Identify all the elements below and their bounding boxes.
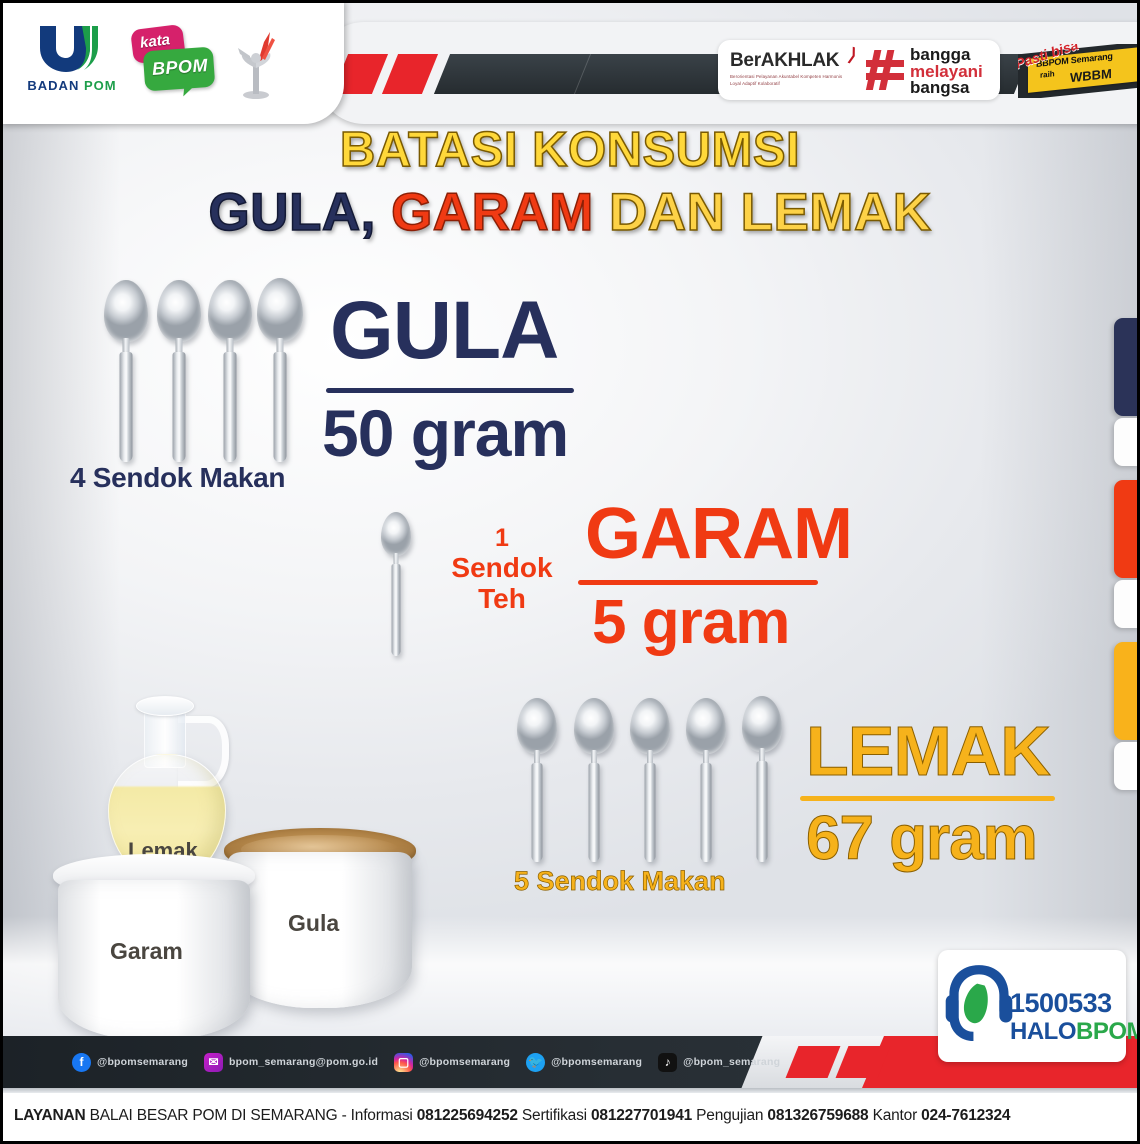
bangga-line3: bangsa: [910, 80, 983, 97]
footer-top-divider: [0, 1088, 1140, 1093]
oil-jug: Lemak: [100, 690, 230, 880]
twitter-handle: @bpomsemarang: [551, 1056, 642, 1068]
hash-icon: [864, 47, 908, 93]
tiktok-handle: @bpom_semarang: [683, 1056, 780, 1068]
headline-dan: DAN: [609, 183, 725, 242]
spoon-icon: [737, 696, 787, 862]
spoon-icon: [376, 512, 416, 656]
lemak-spoon-caption: 5 Sendok Makan: [514, 866, 726, 897]
social-link-facebook[interactable]: f @bpomsemarang: [72, 1053, 188, 1072]
gula-spoon-caption: 4 Sendok Makan: [70, 462, 285, 494]
background-shadow-right: [980, 110, 1140, 1050]
garam-spoon-caption: 1 Sendok Teh: [432, 524, 572, 615]
instagram-handle: @bpomsemarang: [419, 1056, 510, 1068]
footer-pengujian-value: 081326759688: [767, 1107, 868, 1124]
halo-bpom-badge[interactable]: 1500533 HALOBPOM: [938, 950, 1126, 1062]
footer-sertifikasi-value: 081227701941: [591, 1107, 692, 1124]
footer-pengujian-label: Pengujian: [696, 1107, 763, 1124]
poster-headline: BATASI KONSUMSI GULA, GARAM DAN LEMAK: [0, 126, 1140, 240]
social-link-tiktok[interactable]: ♪ @bpom_semarang: [658, 1053, 780, 1072]
salt-jar-label: Garam: [110, 938, 183, 965]
footer-kantor-label: Kantor: [873, 1107, 917, 1124]
bpom-label: BPOM: [151, 55, 208, 80]
bangga-melayani-bangsa-logo: bangga melayani bangsa: [910, 47, 983, 97]
berakhlak-logo: BerAKHLAK ⟩ Berorientasi Pelayanan Akunt…: [730, 50, 852, 88]
headline-line2: GULA, GARAM DAN LEMAK: [0, 186, 1140, 240]
footer-contact-strip: LAYANAN BALAI BESAR POM DI SEMARANG - In…: [0, 1088, 1140, 1144]
garam-divider: [578, 580, 818, 585]
halo-bpom-number: 1500533: [1010, 988, 1112, 1019]
footer-org: BALAI BESAR POM DI SEMARANG: [90, 1107, 338, 1124]
garam-caption-line1: 1: [432, 524, 572, 552]
lemak-title: LEMAK: [806, 718, 1050, 785]
badan-pom-mark-icon: [34, 24, 106, 74]
tiktok-icon: ♪: [658, 1053, 677, 1072]
facebook-handle: @bpomsemarang: [97, 1056, 188, 1068]
spoon-icon: [251, 278, 309, 462]
gula-amount: 50 gram: [322, 400, 568, 466]
berakhlak-bangga-pill: BerAKHLAK ⟩ Berorientasi Pelayanan Akunt…: [718, 40, 1000, 100]
social-link-twitter[interactable]: 🐦 @bpomsemarang: [526, 1053, 642, 1072]
footer-kantor-value: 024-7612324: [921, 1107, 1010, 1124]
badan-pom-wordmark: BADAN POM: [18, 78, 126, 93]
twitter-icon: 🐦: [526, 1053, 545, 1072]
garam-caption-line3: Teh: [432, 583, 572, 614]
sugar-jar-label: Gula: [288, 910, 339, 937]
tab-gula-white: [1114, 418, 1140, 466]
spoon-icon: [681, 698, 731, 862]
lemak-divider: [800, 796, 1055, 801]
berakhlak-tick-icon: ⟩: [846, 44, 859, 66]
gula-title: GULA: [330, 292, 558, 370]
social-links-group: f @bpomsemarang ✉ bpom_semarang@pom.go.i…: [72, 1036, 780, 1088]
garam-caption-line2: Sendok: [432, 552, 572, 583]
footer-contact-text: LAYANAN BALAI BESAR POM DI SEMARANG - In…: [0, 1107, 1010, 1125]
garam-amount: 5 gram: [592, 592, 789, 654]
headline-garam: GARAM: [391, 183, 594, 242]
headline-line1: BATASI KONSUMSI: [0, 126, 1140, 176]
badan-pom-logo: BADAN POM: [18, 24, 126, 100]
tugu-muda-statue-icon: [228, 28, 284, 100]
header-logo-group: BADAN POM kata BPOM: [0, 0, 344, 124]
email-icon: ✉: [204, 1053, 223, 1072]
infographic-poster: BerAKHLAK ⟩ Berorientasi Pelayanan Akunt…: [0, 0, 1140, 1144]
jug-lip: [136, 696, 194, 716]
social-link-email[interactable]: ✉ bpom_semarang@pom.go.id: [204, 1053, 378, 1072]
footer-sertifikasi-label: Sertifikasi: [522, 1107, 587, 1124]
berakhlak-title: BerAKHLAK ⟩: [730, 50, 852, 72]
halo-bpom-wordmark: HALOBPOM: [1010, 1018, 1140, 1046]
wbbm-ribbon: BBPOM Semarang raih WBBM Pasti bisa: [1018, 44, 1140, 98]
tab-garam-indicator[interactable]: [1114, 480, 1140, 578]
header-banner: BerAKHLAK ⟩ Berorientasi Pelayanan Akunt…: [318, 22, 1140, 124]
lemak-amount: 67 gram: [806, 808, 1037, 870]
footer-prefix: LAYANAN: [14, 1107, 86, 1124]
tab-lemak-white: [1114, 742, 1140, 790]
social-link-instagram[interactable]: ▢ @bpomsemarang: [394, 1053, 510, 1072]
facebook-icon: f: [72, 1053, 91, 1072]
spoon-icon: [625, 698, 675, 862]
tab-garam-white: [1114, 580, 1140, 628]
headline-lemak: LEMAK: [741, 183, 932, 242]
footer-info-value: 081225694252: [417, 1107, 518, 1124]
spoon-icon: [512, 698, 562, 862]
email-handle: bpom_semarang@pom.go.id: [229, 1056, 378, 1068]
gula-divider: [326, 388, 574, 393]
garam-title: GARAM: [585, 500, 852, 568]
spoon-icon: [151, 280, 207, 462]
bubble-tail-icon: [183, 82, 196, 97]
instagram-icon: ▢: [394, 1053, 413, 1072]
headline-gula: GULA,: [208, 183, 375, 242]
sugar-jar: Gula: [228, 852, 412, 1008]
spoon-icon: [202, 280, 258, 462]
kata-bpom-logo: kata BPOM: [130, 27, 216, 95]
tab-lemak-indicator[interactable]: [1114, 642, 1140, 740]
spoon-icon: [569, 698, 619, 862]
kata-label: kata: [139, 31, 171, 52]
wbbm-line2: raih: [1040, 69, 1055, 80]
berakhlak-subtitle: Berorientasi Pelayanan Akuntabel Kompete…: [730, 74, 852, 88]
spoon-icon: [98, 280, 154, 462]
footer-info-label: Informasi: [351, 1107, 413, 1124]
tab-gula-indicator[interactable]: [1114, 318, 1140, 416]
salt-jar: Garam: [58, 880, 250, 1040]
